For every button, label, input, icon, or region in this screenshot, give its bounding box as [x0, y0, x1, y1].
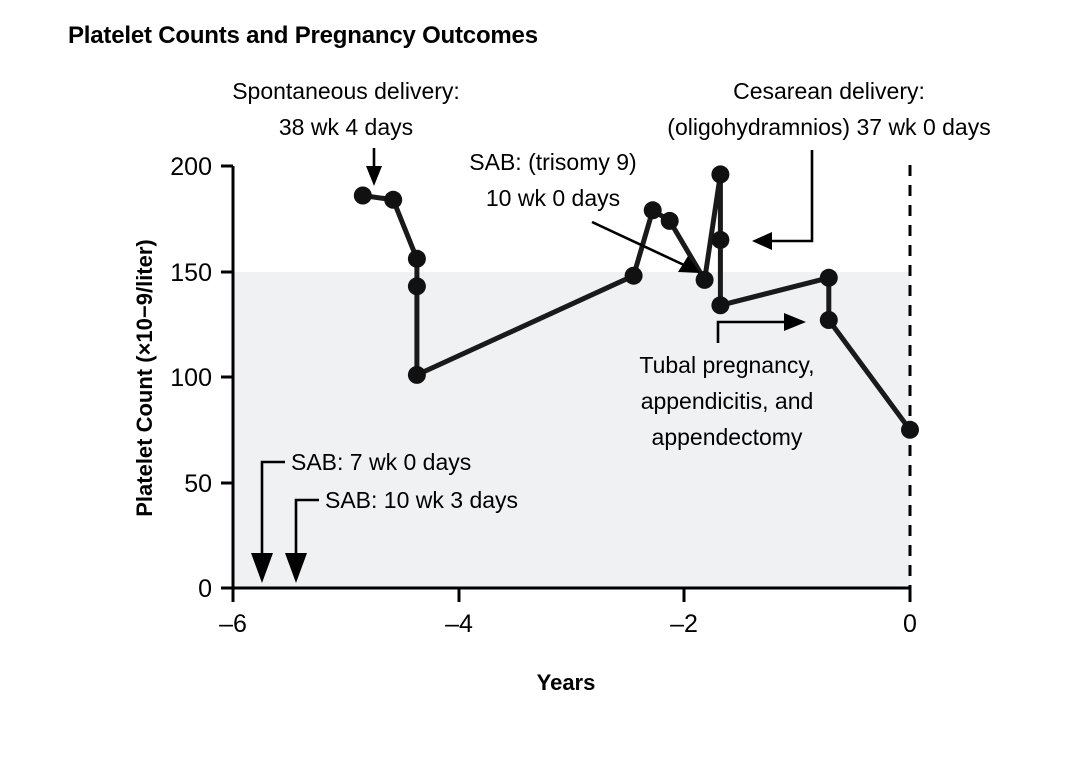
spontaneous-delivery-arrowhead	[366, 166, 382, 186]
data-point	[625, 267, 643, 285]
data-point	[711, 296, 729, 314]
x-tick-label-0: 0	[903, 610, 917, 638]
sab-trisomy-line2: 10 wk 0 days	[486, 185, 620, 211]
annotation-cesarean-delivery: Cesarean delivery: (oligohydramnios) 37 …	[667, 78, 990, 250]
data-point	[408, 277, 426, 295]
cesarean-delivery-arrowhead	[752, 232, 772, 250]
thrombocytopenia-band	[233, 272, 910, 588]
x-tick-label-neg2: –2	[670, 610, 698, 638]
annotation-spontaneous-delivery: Spontaneous delivery: 38 wk 4 days	[232, 78, 460, 186]
y-axis-title: Platelet Count (×10−9/liter)	[132, 239, 157, 517]
spontaneous-delivery-line1: Spontaneous delivery:	[232, 78, 460, 104]
sab-7wk-label: SAB: 7 wk 0 days	[291, 449, 471, 475]
x-tick-label-neg6: –6	[219, 610, 247, 638]
spontaneous-delivery-line2: 38 wk 4 days	[279, 114, 413, 140]
data-point	[711, 165, 729, 183]
data-point	[384, 191, 402, 209]
figure-root: Platelet Counts and Pregnancy Outcomes 2…	[0, 0, 1080, 762]
tubal-pregnancy-line3: appendectomy	[652, 424, 803, 450]
y-tick-label-50: 50	[184, 470, 212, 498]
tubal-pregnancy-line2: appendicitis, and	[641, 388, 814, 414]
x-tick-label-neg4: –4	[445, 610, 473, 638]
tubal-pregnancy-line1: Tubal pregnancy,	[639, 352, 814, 378]
data-point	[901, 421, 919, 439]
data-point	[711, 231, 729, 249]
data-point	[820, 269, 838, 287]
y-tick-label-200: 200	[170, 153, 212, 181]
data-point	[408, 366, 426, 384]
platelet-count-chart: 200 150 100 50 0 –6 –4 –2 0 Platelet Cou…	[0, 0, 1080, 762]
data-point	[661, 212, 679, 230]
y-tick-label-0: 0	[198, 575, 212, 603]
annotation-sab-trisomy9: SAB: (trisomy 9) 10 wk 0 days	[469, 149, 700, 273]
cesarean-delivery-line2: (oligohydramnios) 37 wk 0 days	[667, 114, 990, 140]
cesarean-delivery-leader	[770, 150, 812, 241]
data-point	[696, 271, 714, 289]
data-point	[820, 311, 838, 329]
data-point	[644, 201, 662, 219]
data-point	[408, 250, 426, 268]
y-tick-label-150: 150	[170, 259, 212, 287]
sab-10wk-label: SAB: 10 wk 3 days	[325, 487, 518, 513]
sab-trisomy-line1: SAB: (trisomy 9)	[469, 149, 636, 175]
data-point	[354, 187, 372, 205]
x-axis-title: Years	[537, 670, 596, 695]
cesarean-delivery-line1: Cesarean delivery:	[733, 78, 925, 104]
y-tick-label-100: 100	[170, 364, 212, 392]
